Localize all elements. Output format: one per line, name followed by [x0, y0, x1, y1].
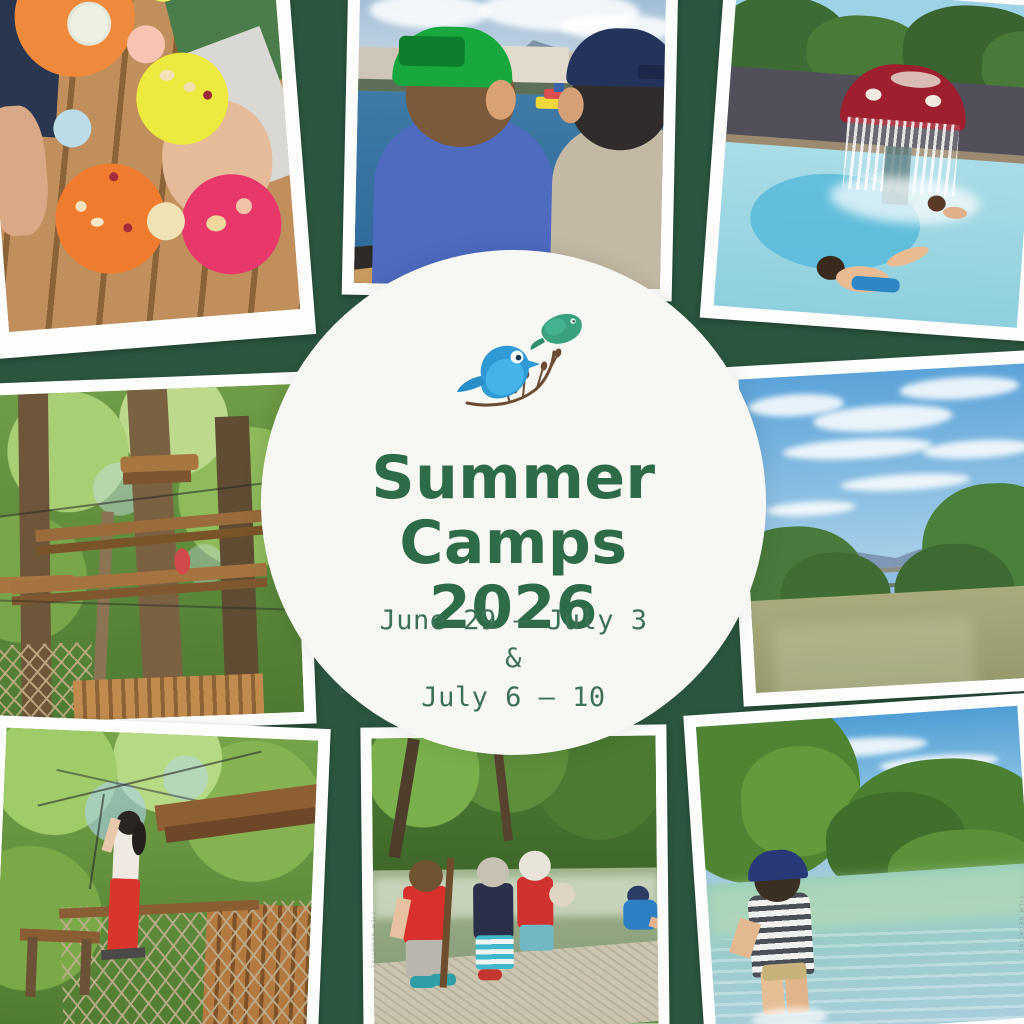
photo-rope-bridge-image — [0, 728, 318, 1024]
summer-camps-poster: FILM NEGATIVE FILM NEGATIVE FILM NEGATIV… — [0, 0, 1024, 1024]
title-line-1: Summer Camps — [371, 443, 655, 578]
camp-date-week-2: July 6 – 10 — [261, 679, 766, 717]
photo-snack-table-image — [0, 0, 300, 332]
photo-river-play — [360, 724, 669, 1024]
film-edge-mark: FILM NEGATIVE — [370, 912, 376, 969]
photo-river-valley — [725, 349, 1024, 706]
photo-rope-bridge — [0, 715, 331, 1024]
photo-mushroom-pool — [700, 0, 1024, 342]
center-circle-panel: Summer Camps 2026 June 29 – July 3 & Jul… — [261, 250, 766, 755]
camp-date-separator: & — [261, 640, 766, 678]
photo-treetop-course-image — [0, 384, 304, 724]
photo-wading-child-image — [696, 706, 1024, 1024]
photo-mushroom-pool-image — [714, 0, 1024, 328]
photo-river-valley-image — [738, 363, 1024, 693]
photo-boys-lake-boat-image — [354, 0, 666, 289]
photo-wading-child — [683, 693, 1024, 1024]
photo-snack-table — [0, 0, 316, 359]
photo-river-play-image — [371, 736, 658, 1024]
two-birds-on-branch-logo — [439, 304, 589, 424]
film-edge-mark: FILM NEGATIVE — [1018, 896, 1024, 953]
camp-date-week-1: June 29 – July 3 — [261, 602, 766, 640]
camp-dates: June 29 – July 3 & July 6 – 10 — [261, 602, 766, 717]
